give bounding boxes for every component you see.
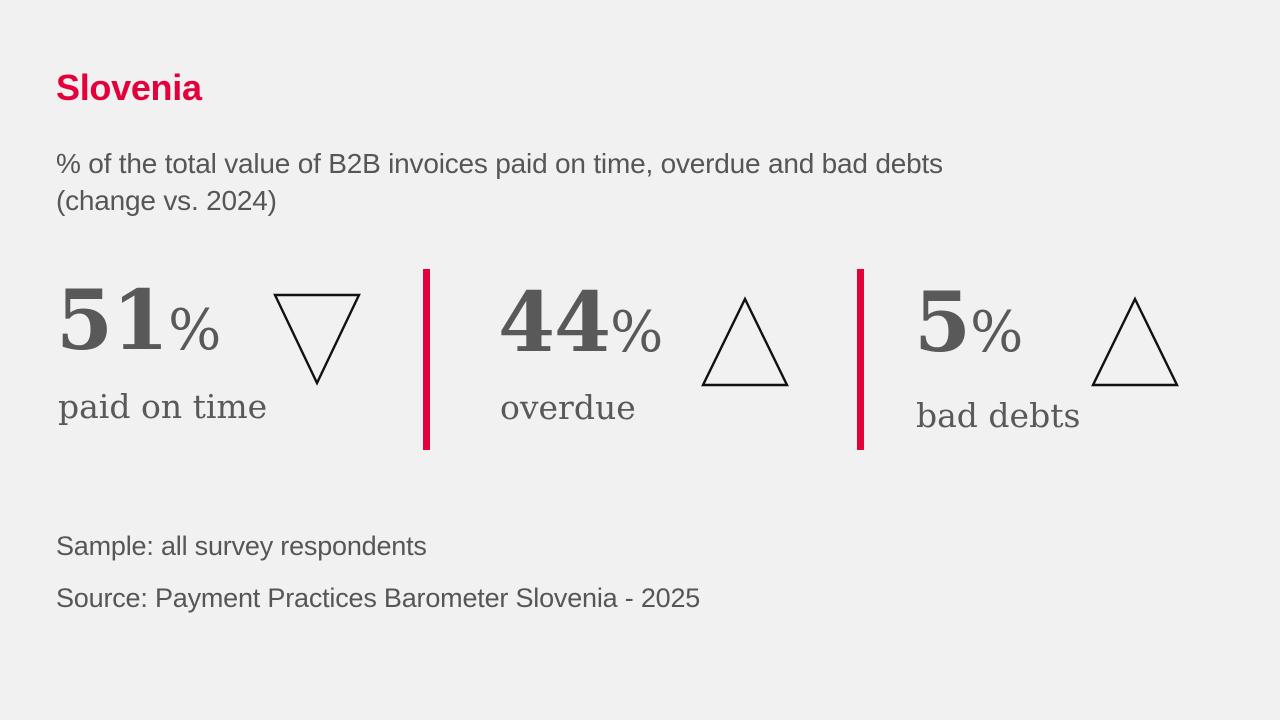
stat-label-paid-on-time: paid on time [58, 390, 267, 423]
stat-number: 44 [498, 275, 610, 371]
infographic-canvas: Slovenia % of the total value of B2B inv… [0, 0, 1280, 720]
footer-notes: Sample: all survey respondents Source: P… [56, 533, 700, 612]
stat-block-paid-on-time: 51% paid on time [56, 260, 396, 460]
triangle-up-icon [701, 294, 789, 388]
stat-value-row: 5% [914, 286, 1179, 388]
page-subtitle-line-2: (change vs. 2024) [56, 183, 1206, 220]
footer-source-text: Source: Payment Practices Barometer Slov… [56, 585, 700, 612]
stat-label-bad-debts: bad debts [916, 399, 1080, 432]
stat-number: 51 [56, 273, 168, 369]
page-title: Slovenia [56, 70, 202, 106]
stat-block-overdue: 44% overdue [498, 260, 828, 460]
stats-row: 51% paid on time 44% overdue [0, 260, 1280, 460]
stat-block-bad-debts: 5% bad debts [914, 260, 1214, 460]
stat-value-row: 44% [498, 286, 789, 388]
stat-value-row: 51% [56, 284, 361, 386]
percent-sign: % [970, 300, 1023, 365]
footer-sample-text: Sample: all survey respondents [56, 531, 427, 561]
percent-sign: % [168, 298, 221, 363]
stat-value-bad-debts: 5% [914, 286, 1023, 361]
stat-value-paid-on-time: 51% [56, 284, 221, 359]
percent-sign: % [610, 300, 663, 365]
triangle-down-icon [273, 292, 361, 386]
page-subtitle-line-1: % of the total value of B2B invoices pai… [56, 148, 943, 179]
stat-number: 5 [914, 275, 970, 371]
stat-label-overdue: overdue [500, 391, 636, 424]
triangle-up-icon [1091, 294, 1179, 388]
page-subtitle: % of the total value of B2B invoices pai… [56, 146, 1206, 220]
stat-value-overdue: 44% [498, 286, 663, 361]
